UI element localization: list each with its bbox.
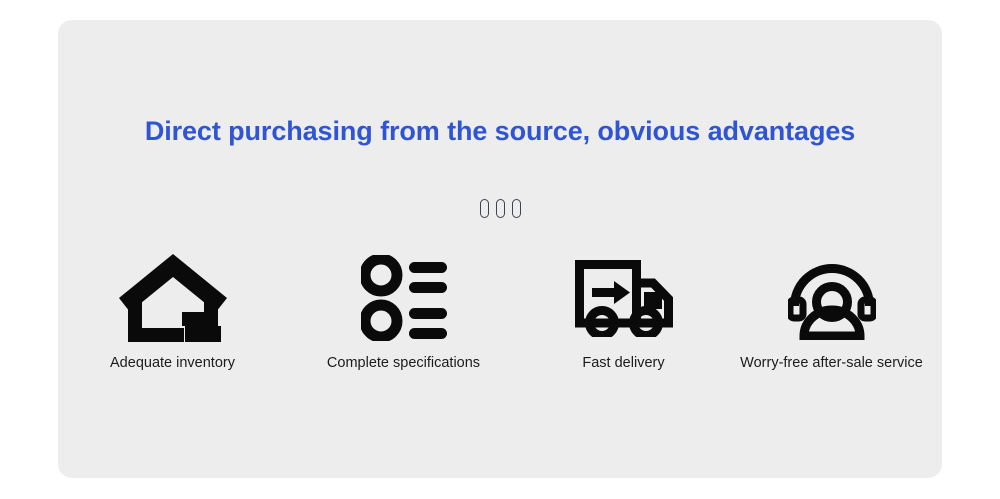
specification-list-icon [361, 252, 447, 344]
feature-item-after-sale-service: Worry-free after-sale service [721, 252, 942, 372]
feature-label: Fast delivery [582, 354, 664, 372]
feature-label: Adequate inventory [110, 354, 235, 372]
promo-card: Direct purchasing from the source, obvio… [58, 20, 942, 478]
feature-label: Complete specifications [327, 354, 480, 372]
pill-icon [512, 199, 521, 218]
page-title: Direct purchasing from the source, obvio… [58, 114, 942, 148]
delivery-truck-icon [574, 252, 674, 344]
warehouse-inventory-icon [119, 252, 227, 344]
feature-label: Worry-free after-sale service [740, 354, 923, 372]
pill-icon [496, 199, 505, 218]
title-ornament [58, 199, 942, 218]
feature-item-delivery: Fast delivery [513, 252, 734, 372]
feature-item-specifications: Complete specifications [293, 252, 514, 372]
page-root: Direct purchasing from the source, obvio… [0, 0, 1000, 499]
features-row: Adequate inventory Complete specificatio… [58, 252, 942, 372]
pill-icon [480, 199, 489, 218]
customer-service-headset-icon [788, 252, 876, 344]
feature-item-inventory: Adequate inventory [62, 252, 283, 372]
